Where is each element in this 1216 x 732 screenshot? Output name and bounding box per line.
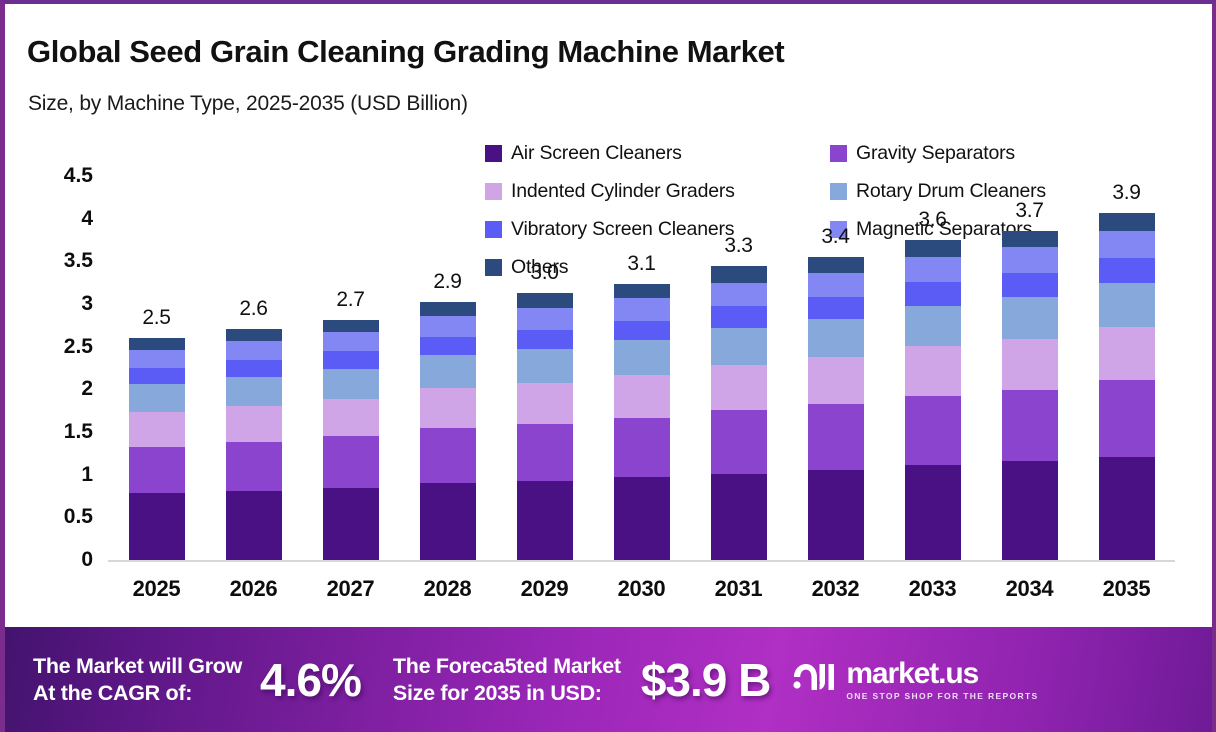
cagr-caption: The Market will Grow At the CAGR of: xyxy=(33,653,242,705)
stacked-bar[interactable] xyxy=(323,320,379,560)
bar-segment[interactable] xyxy=(711,306,767,327)
bar-slot: 2.5 xyxy=(108,204,205,560)
stacked-bar[interactable] xyxy=(1002,231,1058,560)
x-axis-tick-label: 2031 xyxy=(690,576,787,602)
bar-slot: 3.7 xyxy=(981,204,1078,560)
bar-segment[interactable] xyxy=(517,330,573,350)
bar-segment[interactable] xyxy=(1099,283,1155,327)
bar-segment[interactable] xyxy=(517,383,573,424)
stacked-bar[interactable] xyxy=(517,293,573,560)
x-axis-tick-label: 2027 xyxy=(302,576,399,602)
bar-value-label: 2.9 xyxy=(399,270,496,294)
stacked-bar[interactable] xyxy=(1099,213,1155,560)
bar-segment[interactable] xyxy=(226,491,282,560)
stacked-bar[interactable] xyxy=(614,284,670,560)
bar-slot: 3.9 xyxy=(1078,204,1175,560)
stacked-bar[interactable] xyxy=(808,257,864,560)
x-axis-tick-label: 2035 xyxy=(1078,576,1175,602)
x-axis-tick-label: 2028 xyxy=(399,576,496,602)
bar-segment[interactable] xyxy=(1099,258,1155,283)
bar-segment[interactable] xyxy=(129,384,185,412)
bar-slot: 2.7 xyxy=(302,204,399,560)
forecast-caption-line1: The Foreca5ted Market xyxy=(393,653,621,679)
logo-tagline: ONE STOP SHOP FOR THE REPORTS xyxy=(846,692,1038,701)
stacked-bar[interactable] xyxy=(711,266,767,560)
bar-segment[interactable] xyxy=(614,375,670,418)
bar-segment[interactable] xyxy=(226,341,282,360)
bar-value-label: 3.9 xyxy=(1078,181,1175,205)
bar-segment[interactable] xyxy=(808,357,864,404)
market-us-logo[interactable]: market.us ONE STOP SHOP FOR THE REPORTS xyxy=(792,659,1038,701)
bar-segment[interactable] xyxy=(226,406,282,442)
bar-segment[interactable] xyxy=(808,470,864,560)
bar-segment[interactable] xyxy=(905,396,961,465)
market-us-glyph-icon xyxy=(792,660,838,699)
stacked-bar[interactable] xyxy=(905,240,961,560)
bar-segment[interactable] xyxy=(129,412,185,447)
bar-segment[interactable] xyxy=(614,477,670,560)
bar-segment[interactable] xyxy=(808,297,864,319)
cagr-block: The Market will Grow At the CAGR of: 4.6… xyxy=(33,653,361,707)
bar-segment[interactable] xyxy=(711,365,767,410)
bar-slot: 3.3 xyxy=(690,204,787,560)
stacked-bar[interactable] xyxy=(420,302,476,560)
bar-segment[interactable] xyxy=(614,418,670,478)
bar-segment[interactable] xyxy=(808,257,864,272)
bar-segment[interactable] xyxy=(905,306,961,347)
bar-segment[interactable] xyxy=(323,369,379,399)
y-axis-tick-label: 0 xyxy=(5,548,93,572)
bar-segment[interactable] xyxy=(1002,390,1058,461)
bar-segment[interactable] xyxy=(711,283,767,306)
bar-value-label: 3.1 xyxy=(593,252,690,276)
bar-segment[interactable] xyxy=(226,360,282,377)
bar-segment[interactable] xyxy=(129,493,185,560)
bar-value-label: 2.5 xyxy=(108,306,205,330)
x-axis-tick-label: 2032 xyxy=(787,576,884,602)
bar-segment[interactable] xyxy=(614,284,670,298)
bar-segment[interactable] xyxy=(420,388,476,428)
bar-segment[interactable] xyxy=(420,355,476,388)
y-axis-tick-label: 3 xyxy=(5,292,93,316)
y-axis-tick-label: 4.5 xyxy=(5,164,93,188)
bar-segment[interactable] xyxy=(1002,297,1058,339)
bar-slot: 3.0 xyxy=(496,204,593,560)
bar-segment[interactable] xyxy=(1002,231,1058,247)
bar-segment[interactable] xyxy=(1002,339,1058,390)
logo-wordmark: market.us xyxy=(846,659,1038,689)
bar-segment[interactable] xyxy=(517,481,573,560)
bar-segment[interactable] xyxy=(323,436,379,488)
bar-slot: 3.6 xyxy=(884,204,981,560)
y-axis-tick-label: 2 xyxy=(5,377,93,401)
bar-segment[interactable] xyxy=(614,321,670,341)
bar-segment[interactable] xyxy=(420,428,476,483)
bar-segment[interactable] xyxy=(420,316,476,336)
forecast-value: $3.9 B xyxy=(641,653,771,707)
bar-segment[interactable] xyxy=(323,332,379,351)
bar-segment[interactable] xyxy=(1002,273,1058,297)
bar-segment[interactable] xyxy=(905,282,961,305)
bar-segment[interactable] xyxy=(905,240,961,257)
y-axis-tick-label: 3.5 xyxy=(5,249,93,273)
bar-segment[interactable] xyxy=(614,340,670,375)
bar-segment[interactable] xyxy=(420,302,476,316)
forecast-caption-line2: Size for 2035 in USD: xyxy=(393,680,621,706)
cagr-caption-line1: The Market will Grow xyxy=(33,653,242,679)
bar-segment[interactable] xyxy=(323,351,379,369)
plot-area: 00.511.522.533.544.5 2.52.62.72.93.03.13… xyxy=(5,4,1216,624)
bar-value-label: 2.6 xyxy=(205,297,302,321)
bar-segment[interactable] xyxy=(1099,380,1155,457)
chart-card: Global Seed Grain Cleaning Grading Machi… xyxy=(0,0,1216,732)
bar-segment[interactable] xyxy=(517,349,573,383)
bar-slot: 2.9 xyxy=(399,204,496,560)
cagr-caption-line2: At the CAGR of: xyxy=(33,680,242,706)
forecast-block: The Foreca5ted Market Size for 2035 in U… xyxy=(393,653,770,707)
stacked-bar[interactable] xyxy=(226,329,282,560)
x-axis-line xyxy=(108,560,1175,562)
logo-text: market.us ONE STOP SHOP FOR THE REPORTS xyxy=(846,659,1038,701)
bar-segment[interactable] xyxy=(226,377,282,406)
bar-segment[interactable] xyxy=(808,273,864,297)
forecast-caption: The Foreca5ted Market Size for 2035 in U… xyxy=(393,653,621,705)
bar-segment[interactable] xyxy=(711,328,767,365)
bar-group: 2.52.62.72.93.03.13.33.43.63.73.9 xyxy=(108,204,1175,560)
bar-segment[interactable] xyxy=(1002,461,1058,560)
bar-segment[interactable] xyxy=(1099,457,1155,560)
bar-segment[interactable] xyxy=(1099,231,1155,259)
bar-segment[interactable] xyxy=(323,399,379,436)
bar-segment[interactable] xyxy=(1099,213,1155,231)
bar-value-label: 3.7 xyxy=(981,199,1078,223)
bar-value-label: 3.6 xyxy=(884,208,981,232)
bar-value-label: 3.0 xyxy=(496,261,593,285)
bar-value-label: 3.3 xyxy=(690,234,787,258)
bar-segment[interactable] xyxy=(420,483,476,560)
bar-segment[interactable] xyxy=(129,350,185,368)
bar-segment[interactable] xyxy=(1099,327,1155,380)
x-axis-tick-label: 2029 xyxy=(496,576,593,602)
bar-segment[interactable] xyxy=(517,293,573,308)
bar-segment[interactable] xyxy=(614,298,670,320)
bar-segment[interactable] xyxy=(129,447,185,493)
y-axis-tick-label: 1.5 xyxy=(5,420,93,444)
bar-slot: 3.1 xyxy=(593,204,690,560)
footer-banner: The Market will Grow At the CAGR of: 4.6… xyxy=(5,627,1216,732)
bar-value-label: 3.4 xyxy=(787,225,884,249)
y-axis-tick-label: 0.5 xyxy=(5,505,93,529)
bar-segment[interactable] xyxy=(226,329,282,341)
x-axis-tick-label: 2025 xyxy=(108,576,205,602)
bar-segment[interactable] xyxy=(711,474,767,560)
bar-segment[interactable] xyxy=(711,410,767,473)
bar-segment[interactable] xyxy=(129,338,185,350)
bar-segment[interactable] xyxy=(808,404,864,470)
bar-slot: 2.6 xyxy=(205,204,302,560)
y-axis-tick-label: 1 xyxy=(5,463,93,487)
stacked-bar[interactable] xyxy=(129,338,185,560)
x-axis-tick-label: 2033 xyxy=(884,576,981,602)
bar-slot: 3.4 xyxy=(787,204,884,560)
bar-segment[interactable] xyxy=(808,319,864,357)
x-axis-tick-label: 2030 xyxy=(593,576,690,602)
cagr-value: 4.6% xyxy=(260,653,361,707)
bar-value-label: 2.7 xyxy=(302,288,399,312)
bar-segment[interactable] xyxy=(905,465,961,560)
bar-segment[interactable] xyxy=(517,424,573,481)
bar-segment[interactable] xyxy=(129,368,185,384)
bar-segment[interactable] xyxy=(711,266,767,283)
bar-segment[interactable] xyxy=(323,488,379,560)
x-axis-tick-label: 2026 xyxy=(205,576,302,602)
bar-segment[interactable] xyxy=(905,346,961,396)
y-axis-tick-label: 2.5 xyxy=(5,335,93,359)
bar-segment[interactable] xyxy=(226,442,282,491)
y-axis-tick-label: 4 xyxy=(5,207,93,231)
bar-segment[interactable] xyxy=(517,308,573,329)
x-axis-tick-label: 2034 xyxy=(981,576,1078,602)
bar-segment[interactable] xyxy=(905,257,961,283)
bar-segment[interactable] xyxy=(1002,247,1058,274)
bar-segment[interactable] xyxy=(323,320,379,332)
bar-segment[interactable] xyxy=(420,337,476,356)
